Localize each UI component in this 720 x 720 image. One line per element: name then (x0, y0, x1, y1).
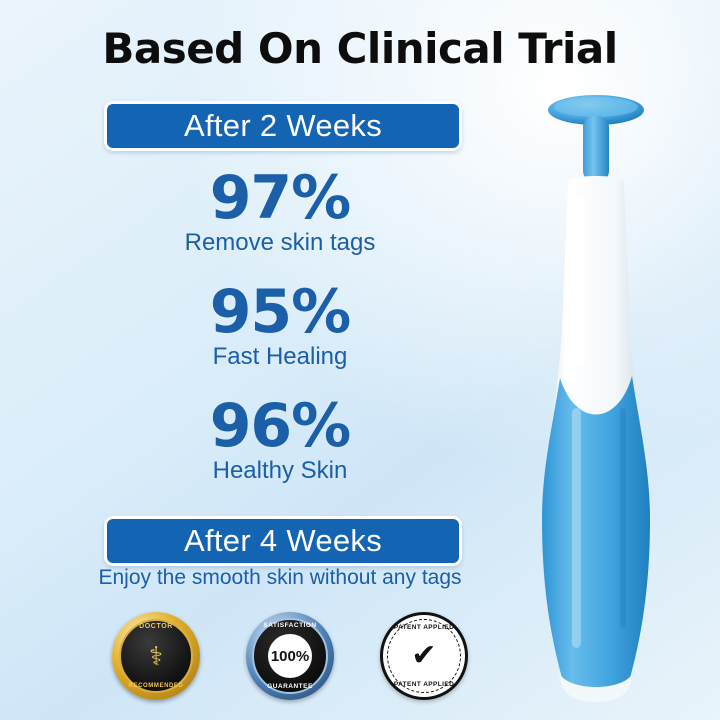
badge-bottom-text: RECOMMENDED (112, 683, 200, 689)
caduceus-icon: ⚕ (149, 643, 163, 669)
skin-tag-remover-device (498, 78, 708, 708)
device-illustration (498, 78, 708, 708)
subline-text: Enjoy the smooth skin without any tags (20, 566, 540, 590)
stat-percent: 97% (100, 168, 460, 228)
patent-applied-badge: ✔ PATENT APPLIED PATENT APPLIED (380, 612, 468, 700)
banner-after-2-weeks-label: After 2 Weeks (184, 108, 382, 144)
badge-top-text: SATISFACTION (246, 622, 334, 629)
stat-fast-healing: 95% Fast Healing (100, 282, 460, 370)
badge-top-text: PATENT APPLIED (380, 624, 468, 631)
banner-after-4-weeks-label: After 4 Weeks (184, 523, 382, 559)
stat-percent: 96% (100, 396, 460, 456)
badge-inner-disc: ⚕ (119, 619, 193, 693)
badge-center-text: 100% (268, 634, 312, 678)
satisfaction-guarantee-badge: 100% SATISFACTION GUARANTEE (246, 612, 334, 700)
doctor-recommended-badge: ⚕ DOCTOR RECOMMENDED (112, 612, 200, 700)
page-title: Based On Clinical Trial (0, 24, 720, 73)
banner-after-2-weeks: After 2 Weeks (104, 101, 462, 151)
badge-row: ⚕ DOCTOR RECOMMENDED 100% SATISFACTION G… (96, 612, 476, 704)
promo-graphic: Based On Clinical Trial After 2 Weeks 97… (0, 0, 720, 720)
stat-label: Healthy Skin (100, 458, 460, 484)
stat-healthy-skin: 96% Healthy Skin (100, 396, 460, 484)
badge-bottom-text: GUARANTEE (246, 683, 334, 690)
stat-remove-skin-tags: 97% Remove skin tags (100, 168, 460, 256)
stat-label: Fast Healing (100, 344, 460, 370)
badge-top-text: DOCTOR (112, 623, 200, 630)
banner-after-4-weeks: After 4 Weeks (104, 516, 462, 566)
stat-label: Remove skin tags (100, 230, 460, 256)
stat-percent: 95% (100, 282, 460, 342)
badge-bottom-text: PATENT APPLIED (380, 681, 468, 688)
